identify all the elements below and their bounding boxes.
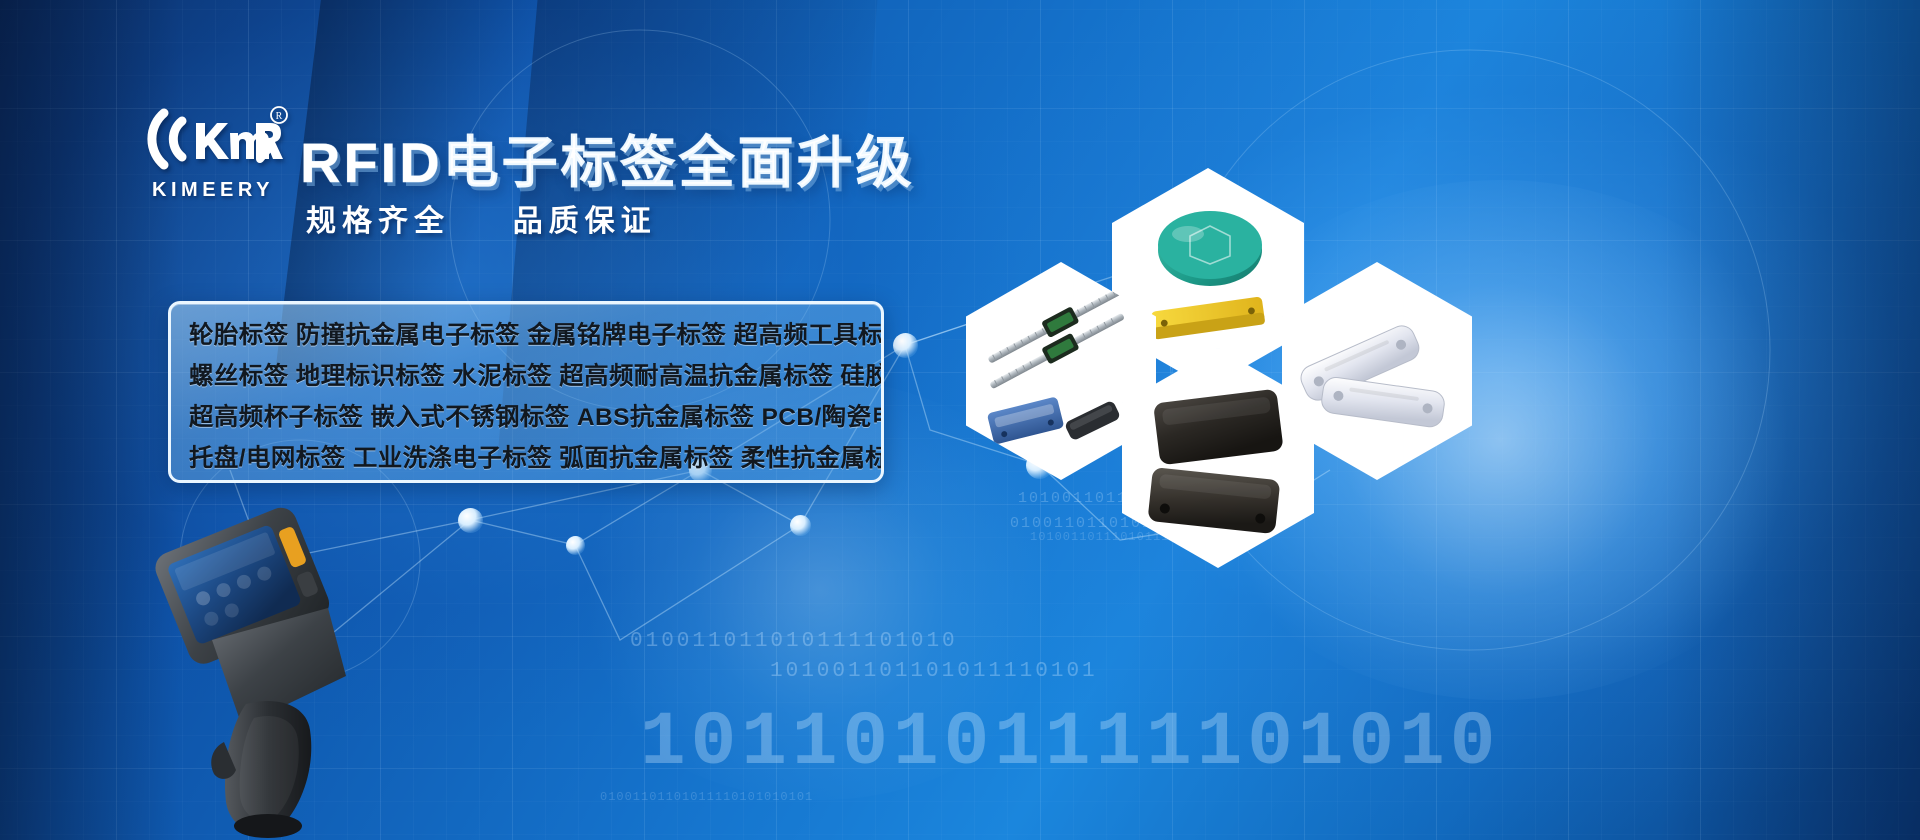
rfid-promo-banner: 10110101111101010 010011011010111101010 … <box>0 0 1920 840</box>
tag-row: 轮胎标签 防撞抗金属电子标签 金属铭牌电子标签 超高频工具标签 <box>189 315 863 356</box>
banner-headline: RFID电子标签全面升级 <box>300 118 915 199</box>
round-teal-tag-icon <box>1158 211 1262 286</box>
svg-text:R: R <box>276 111 283 122</box>
kimeery-wave-logo-icon: R <box>138 103 288 175</box>
product-tag-panel: 轮胎标签 防撞抗金属电子标签 金属铭牌电子标签 超高频工具标签 螺丝标签 地理标… <box>168 301 884 483</box>
subheadline-left: 规格齐全 <box>306 205 450 238</box>
registered-mark-icon: R <box>271 107 287 123</box>
black-anti-metal-tag-icon <box>1153 389 1284 466</box>
rfid-handheld-reader <box>150 490 380 840</box>
white-flexible-tag-icon <box>1320 376 1446 429</box>
banner-subheadline: 规格齐全 品质保证 <box>306 196 657 240</box>
blue-block-tag-icon <box>987 396 1065 444</box>
brand-name: KIMEERY <box>138 179 288 202</box>
banner-content: R KIMEERY RFID电子标签全面升级 规格齐全 品质保证 轮胎标签 防撞… <box>0 0 980 840</box>
tag-row: 超高频杯子标签 嵌入式不锈钢标签 ABS抗金属标签 PCB/陶瓷电子标签 <box>189 397 863 438</box>
tag-row: 螺丝标签 地理标识标签 水泥标签 超高频耐高温抗金属标签 硅胶腕带 <box>189 356 863 397</box>
brand-logo-block: R KIMEERY <box>138 103 288 202</box>
yellow-strip-tag-icon <box>1151 296 1266 339</box>
tag-row: 托盘/电网标签 工业洗涤电子标签 弧面抗金属标签 柔性抗金属标签 <box>189 438 863 479</box>
black-anti-metal-tag-icon <box>1147 467 1280 534</box>
subheadline-right: 品质保证 <box>513 205 657 238</box>
dark-bar-tag-icon <box>1064 400 1121 442</box>
